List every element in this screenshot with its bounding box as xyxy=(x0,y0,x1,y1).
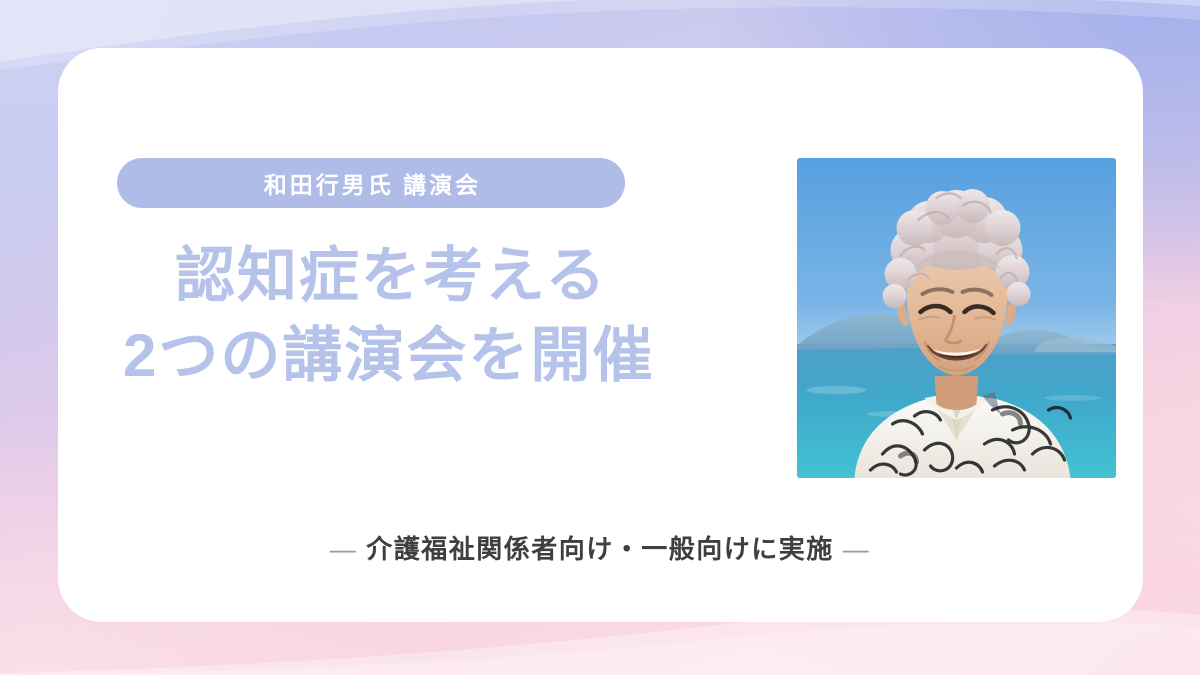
speaker-portrait-photo xyxy=(797,158,1116,478)
subtitle-dash-right: — xyxy=(834,534,880,564)
portrait-illustration xyxy=(797,158,1116,478)
headline: 認知症を考える 2つの講演会を開催 xyxy=(117,236,777,396)
text-column: 和田行男氏 講演会 認知症を考える 2つの講演会を開催 xyxy=(117,158,777,396)
subtitle: —介護福祉関係者向け・一般向けに実施— xyxy=(0,529,1200,566)
subtitle-dash-left: — xyxy=(321,534,367,564)
poster-canvas: 和田行男氏 講演会 認知症を考える 2つの講演会を開催 xyxy=(0,0,1200,675)
headline-line-2: 2つの講演会を開催 xyxy=(117,316,777,396)
subtitle-text: 介護福祉関係者向け・一般向けに実施 xyxy=(366,534,834,564)
speaker-badge-label: 和田行男氏 講演会 xyxy=(261,166,481,200)
headline-line-1: 認知症を考える xyxy=(117,236,777,316)
speaker-badge: 和田行男氏 講演会 xyxy=(117,158,625,208)
